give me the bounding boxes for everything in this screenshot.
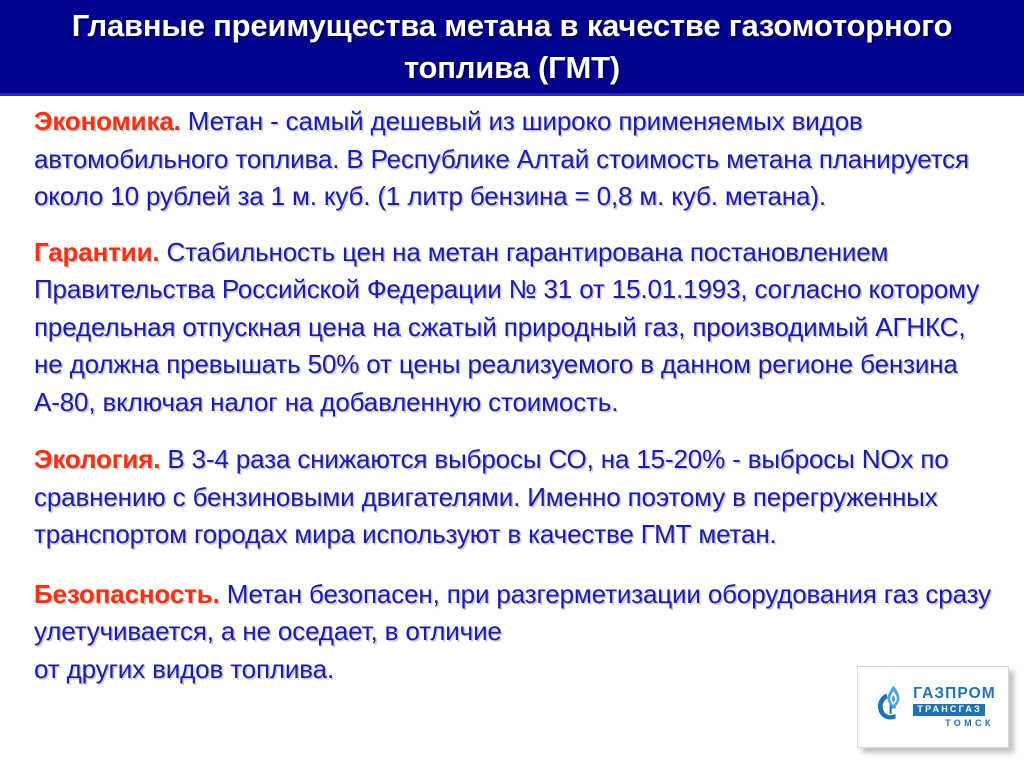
paragraph-text-ecology: В 3-4 раза снижаются выбросы СО, на 15-2… <box>34 444 949 549</box>
logo-city-text: ТОМСК <box>945 719 996 728</box>
paragraph-lead-economics: Экономика. <box>34 106 181 136</box>
gazprom-transgaz-tomsk-logo: ГАЗПРОМ ТРАНСГАЗ ТОМСК <box>857 666 1009 748</box>
paragraph-lead-ecology: Экология. <box>34 444 160 474</box>
slide-title-bar: Главные преимущества метана в качестве г… <box>0 0 1024 96</box>
logo-wordmark: ГАЗПРОМ ТРАНСГАЗ ТОМСК <box>913 686 996 728</box>
paragraph-lead-guarantees: Гарантии. <box>34 237 159 267</box>
paragraph-guarantees: Гарантии. Стабильность цен на метан гара… <box>34 234 989 422</box>
paragraph-safety: Безопасность. Метан безопасен, при разге… <box>34 576 994 689</box>
gazprom-flame-g-icon <box>870 684 910 730</box>
logo-brand-text: ГАЗПРОМ <box>913 686 996 702</box>
paragraph-economics: Экономика. Метан - самый дешевый из широ… <box>34 103 979 216</box>
paragraph-ecology: Экология. В 3-4 раза снижаются выбросы С… <box>34 441 989 554</box>
slide-body: Экономика. Метан - самый дешевый из широ… <box>34 103 994 688</box>
paragraph-text-guarantees: Стабильность цен на метан гарантирована … <box>34 237 979 417</box>
logo-division-text: ТРАНСГАЗ <box>913 704 985 716</box>
slide: Главные преимущества метана в качестве г… <box>0 0 1024 768</box>
slide-title: Главные преимущества метана в качестве г… <box>62 5 962 89</box>
logo-inner: ГАЗПРОМ ТРАНСГАЗ ТОМСК <box>870 684 996 730</box>
paragraph-lead-safety: Безопасность. <box>34 579 220 609</box>
